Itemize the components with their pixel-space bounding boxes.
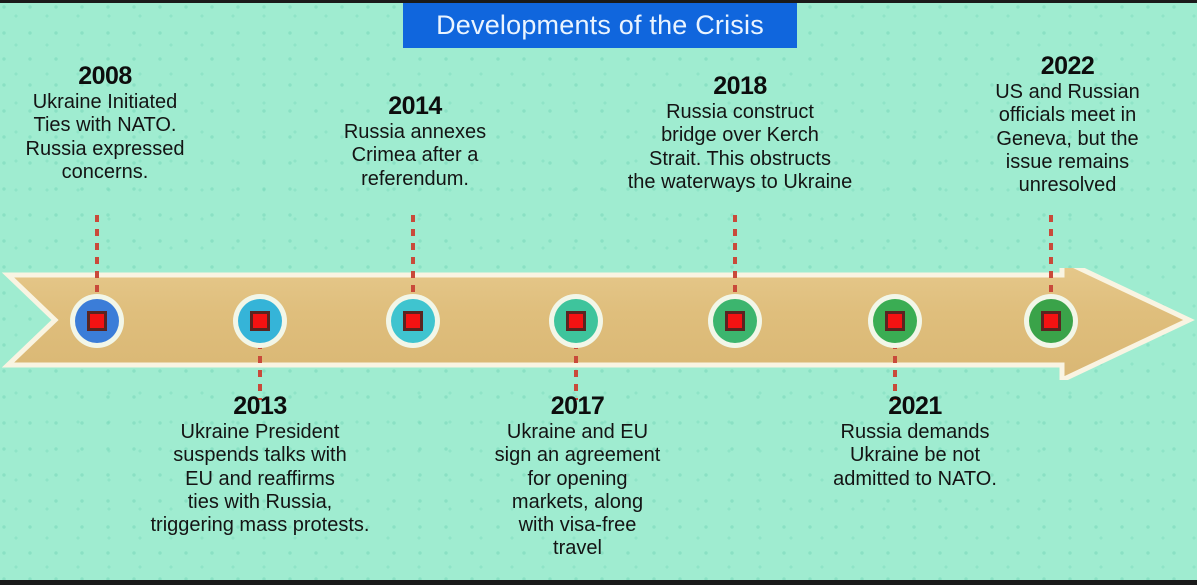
- marker-disc: [238, 299, 282, 343]
- connector-2014: [411, 215, 415, 301]
- marker-square-inner: [728, 314, 742, 328]
- marker-square-inner: [1044, 314, 1058, 328]
- timeline-entry-2013: 2013 Ukraine President suspends talks wi…: [115, 393, 405, 537]
- page-title: Developments of the Crisis: [436, 10, 764, 41]
- entry-year: 2017: [465, 393, 690, 419]
- marker-square-icon: [250, 311, 270, 331]
- entry-description: Russia demands Ukraine be not admitted t…: [790, 421, 1040, 491]
- marker-square-inner: [253, 314, 267, 328]
- entry-description: Ukraine President suspends talks with EU…: [115, 421, 405, 537]
- entry-year: 2018: [600, 73, 880, 99]
- timeline-entry-2021: 2021 Russia demands Ukraine be not admit…: [790, 393, 1040, 491]
- timeline-marker-2013[interactable]: [233, 294, 287, 348]
- marker-disc: [554, 299, 598, 343]
- marker-square-icon: [1041, 311, 1061, 331]
- timeline-entry-2018: 2018 Russia construct bridge over Kerch …: [600, 73, 880, 194]
- entry-year: 2008: [0, 63, 210, 89]
- entry-description: Ukraine Initiated Ties with NATO. Russia…: [0, 91, 210, 184]
- timeline-entry-2014: 2014 Russia annexes Crimea after a refer…: [320, 93, 510, 191]
- timeline-marker-2021[interactable]: [868, 294, 922, 348]
- infographic-canvas: Developments of the Crisis: [0, 0, 1197, 585]
- title-banner: Developments of the Crisis: [403, 3, 797, 48]
- marker-square-inner: [569, 314, 583, 328]
- timeline-marker-2018[interactable]: [708, 294, 762, 348]
- marker-disc: [391, 299, 435, 343]
- marker-square-icon: [725, 311, 745, 331]
- marker-square-icon: [87, 311, 107, 331]
- entry-description: Russia annexes Crimea after a referendum…: [320, 121, 510, 191]
- marker-square-inner: [406, 314, 420, 328]
- entry-year: 2014: [320, 93, 510, 119]
- timeline-entry-2017: 2017 Ukraine and EU sign an agreement fo…: [465, 393, 690, 560]
- marker-square-icon: [403, 311, 423, 331]
- marker-disc: [713, 299, 757, 343]
- timeline-marker-2008[interactable]: [70, 294, 124, 348]
- timeline-marker-2022[interactable]: [1024, 294, 1078, 348]
- marker-disc: [873, 299, 917, 343]
- connector-2022: [1049, 215, 1053, 301]
- entry-description: Russia construct bridge over Kerch Strai…: [600, 101, 880, 194]
- marker-square-icon: [885, 311, 905, 331]
- marker-disc: [75, 299, 119, 343]
- timeline-entry-2008: 2008 Ukraine Initiated Ties with NATO. R…: [0, 63, 210, 184]
- entry-description: US and Russian officials meet in Geneva,…: [945, 81, 1190, 197]
- entry-year: 2021: [790, 393, 1040, 419]
- timeline-marker-2014[interactable]: [386, 294, 440, 348]
- timeline-entry-2022: 2022 US and Russian officials meet in Ge…: [945, 53, 1190, 197]
- timeline-marker-2017[interactable]: [549, 294, 603, 348]
- marker-square-icon: [566, 311, 586, 331]
- entry-description: Ukraine and EU sign an agreement for ope…: [465, 421, 690, 560]
- marker-square-inner: [888, 314, 902, 328]
- marker-square-inner: [90, 314, 104, 328]
- connector-2008: [95, 215, 99, 301]
- marker-disc: [1029, 299, 1073, 343]
- entry-year: 2013: [115, 393, 405, 419]
- connector-2018: [733, 215, 737, 301]
- entry-year: 2022: [945, 53, 1190, 79]
